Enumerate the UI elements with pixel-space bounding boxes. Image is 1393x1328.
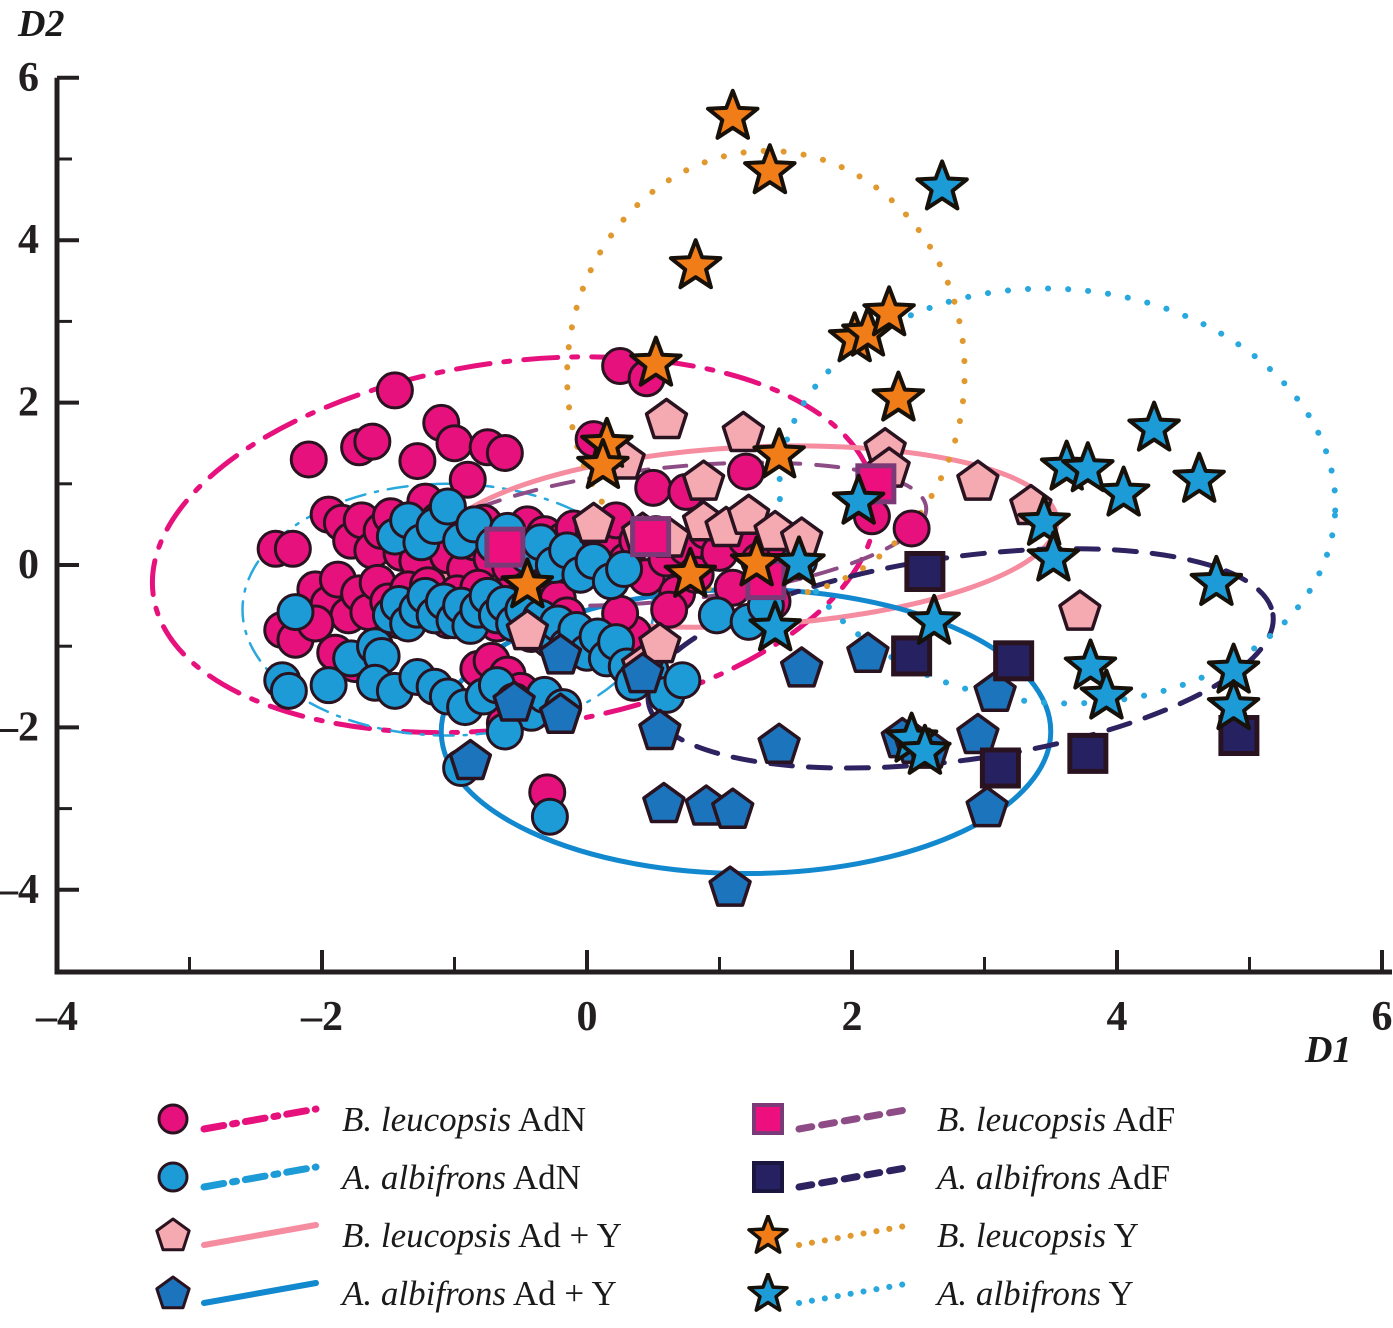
x-axis-label: D1 [1305,1028,1351,1072]
svg-text:–2: –2 [300,994,343,1040]
legend-label: B. leucopsis AdN [342,1102,586,1137]
legend-line-sample [795,1279,915,1307]
legend-item-a-albifrons-y[interactable]: A. albifrons Y [745,1264,1134,1322]
pentagon-marker-icon [150,1273,196,1313]
legend-label: B. leucopsis AdF [937,1102,1175,1137]
circle-marker-icon [150,1157,196,1197]
svg-text:6: 6 [1372,994,1393,1040]
legend-label: B. leucopsis Ad + Y [342,1218,622,1253]
star-marker-icon [745,1273,791,1313]
svg-text:2: 2 [842,994,863,1040]
star-marker-icon [745,1215,791,1255]
pentagon-marker-icon [150,1215,196,1255]
legend-item-a-albifrons-adf[interactable]: A. albifrons AdF [745,1148,1170,1206]
legend-line-sample [200,1163,320,1191]
legend-item-b-leucopsis-adn[interactable]: B. leucopsis AdN [150,1090,586,1148]
square-marker-icon [745,1157,791,1197]
svg-text:–4: –4 [35,994,78,1040]
svg-text:2: 2 [18,380,39,426]
legend: B. leucopsis AdNA. albifrons AdNB. leuco… [0,1090,1393,1328]
legend-item-b-leucopsis-adf[interactable]: B. leucopsis AdF [745,1090,1175,1148]
legend-item-a-albifrons-ad-y[interactable]: A. albifrons Ad + Y [150,1264,617,1322]
figure-root: –4–20246–4–20246 D2 D1 B. leucopsis AdNA… [0,0,1393,1328]
legend-line-sample [795,1221,915,1249]
svg-text:6: 6 [18,55,39,101]
circle-marker-icon [150,1099,196,1139]
legend-line-sample [200,1279,320,1307]
legend-label: A. albifrons AdF [937,1160,1170,1195]
legend-item-b-leucopsis-ad-y[interactable]: B. leucopsis Ad + Y [150,1206,622,1264]
y-axis-label: D2 [18,2,64,46]
svg-text:–2: –2 [0,704,39,750]
svg-text:0: 0 [18,542,39,588]
svg-text:0: 0 [577,994,598,1040]
legend-item-b-leucopsis-y[interactable]: B. leucopsis Y [745,1206,1139,1264]
svg-text:4: 4 [18,217,39,263]
square-marker-icon [745,1099,791,1139]
data-points [258,91,1258,905]
legend-line-sample [200,1221,320,1249]
legend-label: A. albifrons Y [937,1276,1134,1311]
legend-line-sample [795,1163,915,1191]
svg-text:–4: –4 [0,867,39,913]
legend-item-a-albifrons-adn[interactable]: A. albifrons AdN [150,1148,581,1206]
svg-text:4: 4 [1107,994,1128,1040]
legend-label: B. leucopsis Y [937,1218,1139,1253]
legend-label: A. albifrons AdN [342,1160,581,1195]
legend-label: A. albifrons Ad + Y [342,1276,617,1311]
legend-line-sample [795,1105,915,1133]
legend-line-sample [200,1105,320,1133]
scatter-plot: –4–20246–4–20246 [0,0,1393,1080]
